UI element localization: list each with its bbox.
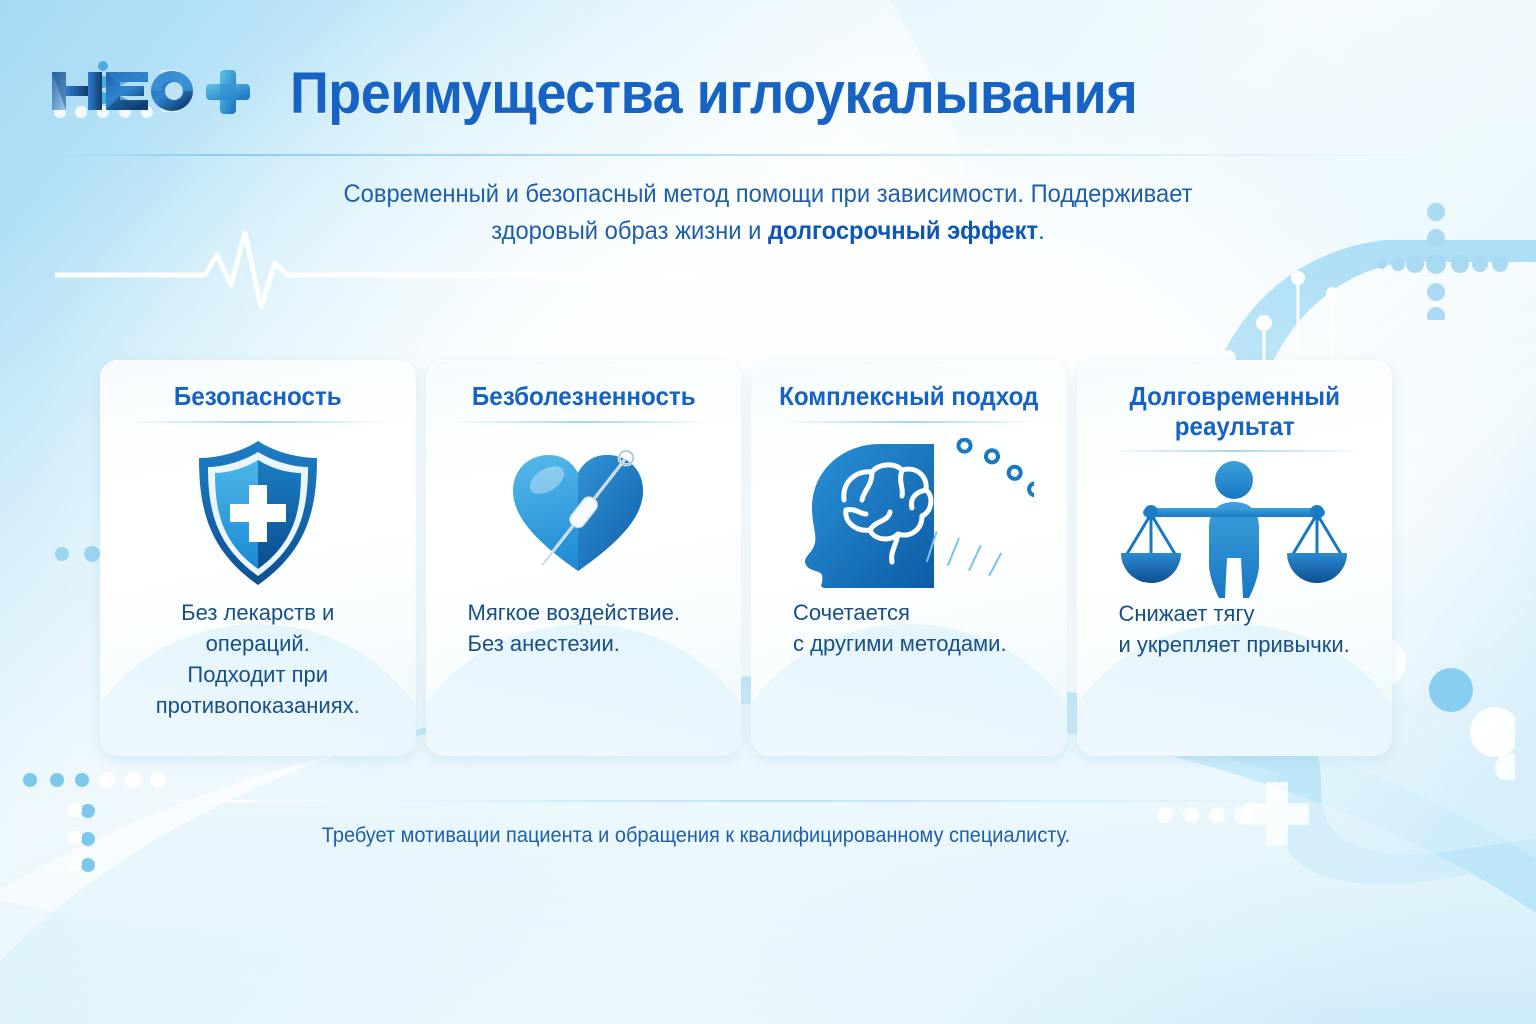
card-text-line: Без анестезии.	[468, 631, 620, 656]
card-text-line: Мягкое воздействие.	[468, 600, 681, 625]
card-description: Мягкое воздействие. Без анестезии.	[442, 597, 726, 659]
heart-needle-icon	[503, 447, 663, 579]
head-brain-needles-icon	[784, 438, 1034, 588]
card-title: Долговременный реаультат	[1102, 382, 1366, 441]
benefit-card-long-term-result[interactable]: Долговременный реаультат	[1077, 360, 1393, 756]
person-scales-icon	[1119, 458, 1349, 598]
subtitle-line-1: Современный и безопасный метод помощи пр…	[343, 180, 1192, 208]
footer-note: Требует мотивации пациента и обращения к…	[35, 824, 1357, 848]
card-description: Без лекарств и операций. Подходит при пр…	[116, 597, 400, 722]
card-title: Комплексный подход	[777, 382, 1041, 412]
card-text-line: Подходит при	[187, 662, 328, 687]
card-icon-slot	[116, 429, 400, 597]
card-text-line: Снижает тягу	[1119, 601, 1255, 626]
card-title-divider	[127, 421, 389, 423]
card-title-divider	[1103, 450, 1365, 452]
subtitle-line-2-suffix: .	[1038, 217, 1045, 245]
neo-plus-logo	[48, 58, 253, 120]
card-icon-slot	[767, 429, 1051, 597]
card-text-line: Без лекарств и операций.	[181, 600, 334, 656]
benefit-card-complex-approach[interactable]: Комплексный подход	[751, 360, 1067, 756]
shield-cross-icon	[192, 438, 324, 588]
subtitle-line-2-prefix: здоровый образ жизни и	[491, 217, 768, 245]
card-title: Безболезненность	[451, 382, 715, 412]
benefit-card-painless[interactable]: Безболезненность	[426, 360, 742, 756]
dot-cross-right-icon	[1370, 200, 1510, 320]
footer-divider	[130, 800, 1290, 802]
card-title-divider	[778, 421, 1040, 423]
card-icon-slot	[1093, 458, 1377, 598]
subtitle: Современный и безопасный метод помощи пр…	[293, 176, 1243, 250]
card-text-line: с другими методами.	[793, 631, 1007, 656]
card-text-line: и укрепляет привычки.	[1119, 632, 1350, 657]
card-description: Снижает тягу и укрепляет привычки.	[1093, 598, 1377, 660]
subtitle-highlight: долгосрочный эффект	[768, 217, 1038, 245]
card-title-divider	[452, 421, 714, 423]
card-icon-slot	[442, 429, 726, 597]
benefit-card-safety[interactable]: Безопасность	[100, 360, 416, 756]
card-text-line: противопоказаниях.	[156, 693, 360, 718]
card-title: Безопасность	[126, 382, 390, 412]
page-header: Преимущества иглоукалывания	[0, 0, 1536, 152]
card-description: Сочетается с другими методами.	[767, 597, 1051, 659]
card-text-line: Сочетается	[793, 600, 910, 625]
header-divider	[52, 154, 1442, 156]
page-title: Преимущества иглоукалывания	[290, 60, 1137, 127]
benefit-cards-row: Безопасность	[100, 360, 1392, 756]
